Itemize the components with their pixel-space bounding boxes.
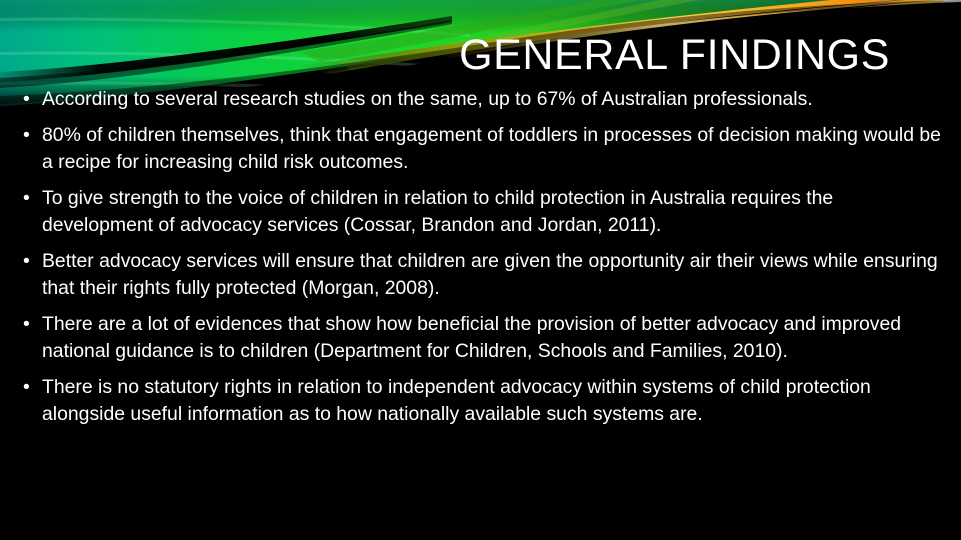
bullet-item: 80% of children themselves, think that e…	[16, 122, 946, 176]
bullet-list: According to several research studies on…	[16, 86, 946, 428]
bullet-item: There is no statutory rights in relation…	[16, 374, 946, 428]
slide-title: GENERAL FINDINGS	[0, 33, 890, 78]
bullet-item: Better advocacy services will ensure tha…	[16, 248, 946, 302]
bullet-item: There are a lot of evidences that show h…	[16, 311, 946, 365]
presentation-slide: GENERAL FINDINGS According to several re…	[0, 0, 961, 540]
bullet-item: According to several research studies on…	[16, 86, 946, 113]
bullet-item: To give strength to the voice of childre…	[16, 185, 946, 239]
slide-body: According to several research studies on…	[16, 86, 946, 437]
